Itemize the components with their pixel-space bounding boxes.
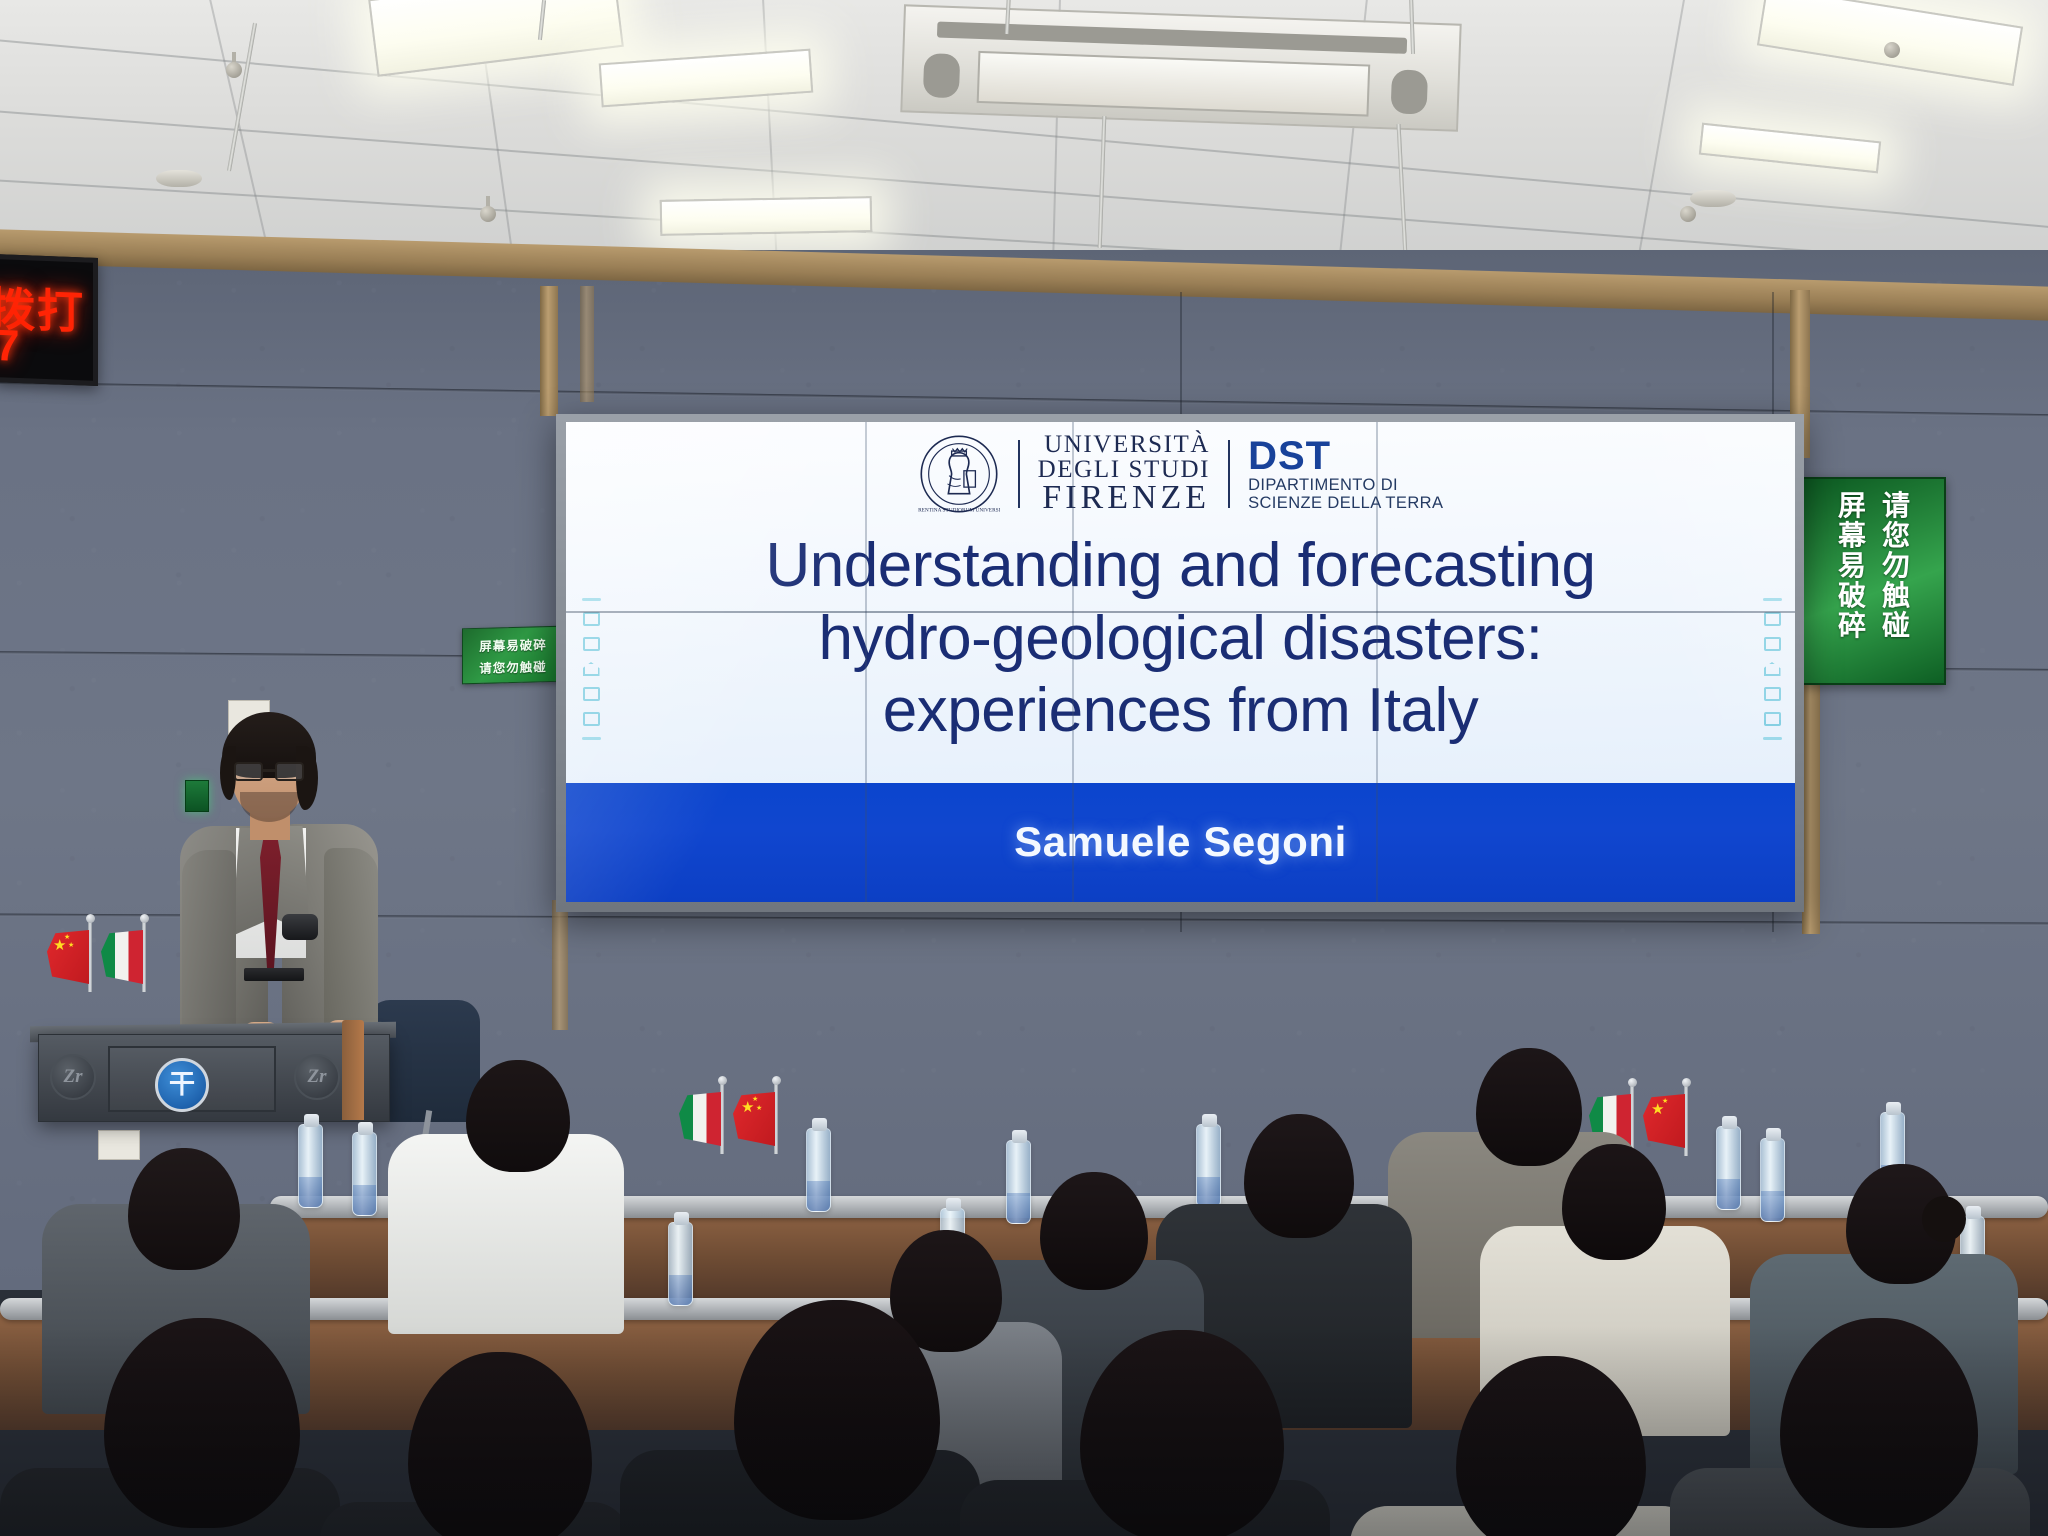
divider-bar-icon — [582, 598, 601, 601]
sign-char: 屏 — [1838, 491, 1866, 520]
home-icon[interactable] — [1764, 662, 1781, 676]
eraser-icon[interactable] — [583, 637, 600, 651]
water-bottle — [1196, 1124, 1221, 1208]
warning-sign-right-col2: 屏 幕 易 破 碎 — [1838, 491, 1866, 671]
desk-flag-pair-center: ★ ★ ★ — [680, 1090, 780, 1150]
screen-share-icon[interactable] — [583, 712, 600, 726]
logo-divider — [1228, 440, 1230, 508]
videowall-tile-seam — [566, 611, 1795, 613]
screen-toolbar-right[interactable] — [1761, 598, 1783, 740]
ceiling-light-panel — [660, 196, 873, 236]
ceiling-light-panel — [1699, 123, 1881, 174]
podium-badge-right: Zr — [294, 1054, 340, 1100]
water-bottle — [1006, 1140, 1031, 1224]
divider-bar-icon — [1763, 737, 1782, 740]
videowall-tile-seam — [1376, 422, 1378, 902]
water-bottle — [1716, 1126, 1741, 1210]
pen-icon[interactable] — [583, 612, 600, 626]
sign-char: 碰 — [1882, 611, 1910, 640]
videowall-tile-seam — [1072, 422, 1074, 902]
water-bottle — [668, 1222, 693, 1306]
warning-sign-left-line2: 请您勿触碰 — [479, 656, 547, 677]
back-icon[interactable] — [583, 687, 600, 701]
ceiling — [0, 0, 2048, 268]
slide-title-line1: Understanding and forecasting — [591, 530, 1771, 603]
university-crest-icon: FLORENTINA STUDIORUM UNIVERSITAS — [918, 433, 1000, 515]
led-video-wall[interactable]: FLORENTINA STUDIORUM UNIVERSITAS UNIVERS… — [556, 414, 1804, 912]
sprinkler-icon — [1680, 206, 1696, 222]
university-wordmark: UNIVERSITÀ DEGLI STUDI FIRENZE — [1038, 433, 1210, 514]
logo-divider — [1018, 440, 1020, 508]
sprinkler-icon — [1884, 42, 1900, 58]
slide-title: Understanding and forecasting hydro-geol… — [591, 530, 1771, 748]
smoke-detector-icon — [1690, 190, 1736, 207]
podium-university-emblem: 干 — [155, 1058, 209, 1112]
china-flag: ★ ★ — [1644, 1092, 1690, 1152]
screen-share-icon[interactable] — [1764, 712, 1781, 726]
slide-title-line3: experiences from Italy — [591, 675, 1771, 748]
sign-char: 请 — [1882, 491, 1910, 520]
screen-toolbar-left[interactable] — [580, 598, 602, 740]
presentation-slide: FLORENTINA STUDIORUM UNIVERSITAS UNIVERS… — [566, 422, 1795, 902]
smoke-detector-icon — [156, 170, 202, 187]
italy-flag — [680, 1090, 726, 1150]
sign-char: 幕 — [1838, 521, 1866, 550]
eraser-icon[interactable] — [1764, 637, 1781, 651]
svg-text:FLORENTINA STUDIORUM UNIVERSIT: FLORENTINA STUDIORUM UNIVERSITAS — [918, 508, 1000, 514]
lecture-hall-scene: 拨打 7 屏幕易破碎 请您勿触碰 请 您 勿 触 碰 屏 幕 易 破 碎 — [0, 0, 2048, 1536]
department-line2: SCIENZE DELLA TERRA — [1248, 494, 1443, 512]
screen-warning-sign-right: 请 您 勿 触 碰 屏 幕 易 破 碎 — [1802, 477, 1946, 685]
air-conditioning-diffuser — [900, 4, 1461, 131]
wall-wood-column — [1802, 684, 1820, 934]
led-sign-line2: 7 — [0, 321, 21, 372]
podium-emblem-glyph: 干 — [169, 1072, 195, 1098]
slide-title-line2: hydro-geological disasters: — [591, 603, 1771, 676]
ceiling-light-panel — [368, 0, 624, 77]
presenter — [178, 700, 386, 1040]
university-line3: FIRENZE — [1042, 482, 1210, 515]
led-scrolling-sign: 拨打 7 — [0, 254, 98, 386]
italy-flag — [102, 928, 148, 988]
pen-icon[interactable] — [1764, 612, 1781, 626]
podium-side-rail — [342, 1020, 364, 1120]
water-bottle — [806, 1128, 831, 1212]
podium-flag-pair: ★ ★ ★ — [48, 928, 148, 988]
sprinkler-icon — [480, 206, 496, 222]
sign-char: 易 — [1838, 551, 1866, 580]
china-flag: ★ ★ ★ — [734, 1090, 780, 1150]
wall-socket-plate — [98, 1130, 140, 1160]
sign-char: 勿 — [1882, 551, 1910, 580]
warning-sign-left-line1: 屏幕易破碎 — [479, 634, 547, 655]
sign-char: 触 — [1882, 581, 1910, 610]
wall-wood-column — [580, 286, 594, 402]
slide-logo-header: FLORENTINA STUDIORUM UNIVERSITAS UNIVERS… — [566, 426, 1795, 522]
slide-author-name: Samuele Segoni — [566, 783, 1795, 902]
water-bottle — [352, 1132, 377, 1216]
department-wordmark: DST DIPARTIMENTO DI SCIENZE DELLA TERRA — [1248, 436, 1443, 513]
videowall-tile-seam — [865, 422, 867, 902]
eyeglasses-icon — [234, 762, 304, 781]
university-line1: UNIVERSITÀ — [1044, 433, 1210, 457]
water-bottle — [298, 1124, 323, 1208]
home-icon[interactable] — [583, 662, 600, 676]
sign-char: 碎 — [1838, 611, 1866, 640]
sign-char: 破 — [1838, 581, 1866, 610]
sprinkler-icon — [226, 62, 242, 78]
wall-wood-column — [552, 900, 568, 1030]
warning-sign-right-col1: 请 您 勿 触 碰 — [1882, 491, 1910, 671]
divider-bar-icon — [582, 737, 601, 740]
department-abbr: DST — [1248, 436, 1331, 476]
wall-wood-column — [540, 286, 558, 416]
back-icon[interactable] — [1764, 687, 1781, 701]
lanyard-badge — [282, 914, 318, 940]
ceiling-light-panel — [599, 49, 814, 108]
podium-badge-left: Zr — [50, 1054, 96, 1100]
sign-char: 您 — [1882, 521, 1910, 550]
divider-bar-icon — [1763, 598, 1782, 601]
china-flag: ★ ★ ★ — [48, 928, 94, 988]
water-bottle — [1760, 1138, 1785, 1222]
screen-warning-sign-left: 屏幕易破碎 请您勿触碰 — [462, 626, 564, 685]
